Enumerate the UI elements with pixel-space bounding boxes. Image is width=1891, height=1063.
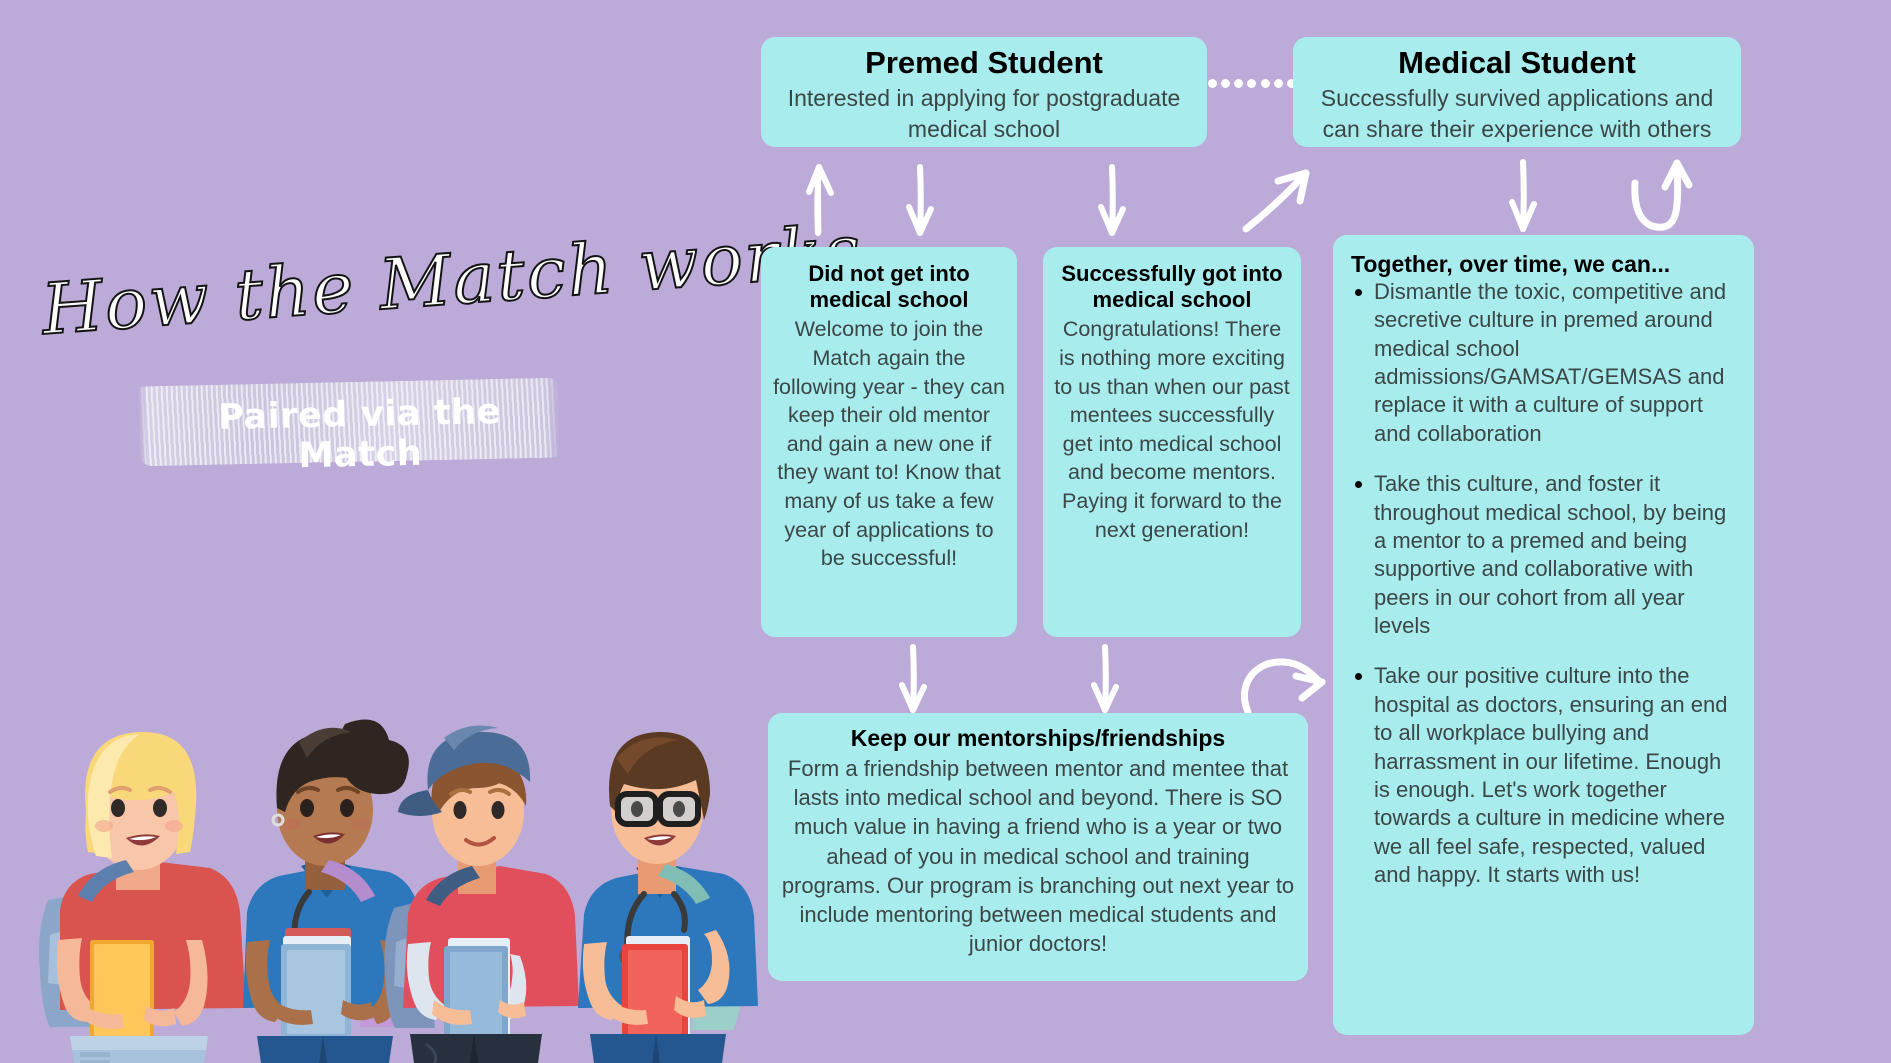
node-premed-student[interactable]: Premed Student Interested in applying fo… — [761, 37, 1207, 147]
four-students-illustration — [30, 700, 790, 1063]
arrow-down-from-got-in-icon — [1085, 645, 1125, 713]
dot — [1208, 79, 1217, 88]
node-premed-student-body: Interested in applying for postgraduate … — [775, 83, 1193, 144]
dot — [1274, 79, 1283, 88]
node-did-not-get-in[interactable]: Did not get into medical school Welcome … — [761, 247, 1017, 637]
arrow-diagonal-up-to-medical-student-icon — [1240, 167, 1320, 237]
together-bullet-3: Take our positive culture into the hospi… — [1347, 662, 1740, 889]
node-did-not-get-in-body: Welcome to join the Match again the foll… — [771, 315, 1007, 572]
node-keep-mentorships-body: Form a friendship between mentor and men… — [778, 754, 1298, 959]
together-bullet-2: Take this culture, and foster it through… — [1347, 470, 1740, 640]
dot — [1221, 79, 1230, 88]
heading-block: How the Match works Paired via the Match — [20, 265, 720, 505]
node-medical-student-title: Medical Student — [1307, 45, 1727, 81]
arrow-down-to-got-in-icon — [1092, 165, 1132, 235]
node-premed-student-title: Premed Student — [775, 45, 1193, 81]
page-title: How the Match works — [39, 219, 723, 351]
infographic-canvas: How the Match works Paired via the Match… — [0, 0, 1891, 1063]
node-got-into-medical-school[interactable]: Successfully got into medical school Con… — [1043, 247, 1301, 637]
subtitle: Paired via the Match — [159, 391, 561, 479]
node-did-not-get-in-title: Did not get into medical school — [771, 261, 1007, 312]
node-keep-mentorships[interactable]: Keep our mentorships/friendships Form a … — [768, 713, 1308, 981]
together-bullet-1: Dismantle the toxic, competitive and sec… — [1347, 278, 1740, 448]
node-medical-student-body: Successfully survived applications and c… — [1307, 83, 1727, 144]
node-together-over-time[interactable]: Together, over time, we can... Dismantle… — [1333, 235, 1754, 1035]
arrow-up-to-premed-icon — [800, 165, 840, 235]
node-got-into-medical-school-title: Successfully got into medical school — [1053, 261, 1291, 312]
figure-glasses-student — [578, 732, 758, 1063]
arrow-u-turn-to-medical-student-icon — [1625, 155, 1695, 235]
arrow-down-to-did-not-get-in-icon — [900, 165, 940, 235]
dot — [1247, 79, 1256, 88]
dot — [1234, 79, 1243, 88]
node-got-into-medical-school-body: Congratulations! There is nothing more e… — [1053, 315, 1291, 544]
students-artwork — [30, 700, 790, 1063]
dotted-connector-premed-to-medical — [1208, 78, 1296, 88]
arrow-down-to-together-icon — [1503, 160, 1543, 232]
figure-capped-student — [384, 726, 579, 1063]
dot — [1261, 79, 1270, 88]
node-together-title: Together, over time, we can... — [1351, 251, 1740, 278]
together-bullet-list: Dismantle the toxic, competitive and sec… — [1347, 278, 1740, 890]
arrow-down-from-did-not-get-in-icon — [893, 645, 933, 713]
node-medical-student[interactable]: Medical Student Successfully survived ap… — [1293, 37, 1741, 147]
node-keep-mentorships-title: Keep our mentorships/friendships — [778, 725, 1298, 752]
arrow-curve-right-to-together-icon — [1232, 650, 1332, 720]
figure-blonde-student — [39, 732, 246, 1063]
